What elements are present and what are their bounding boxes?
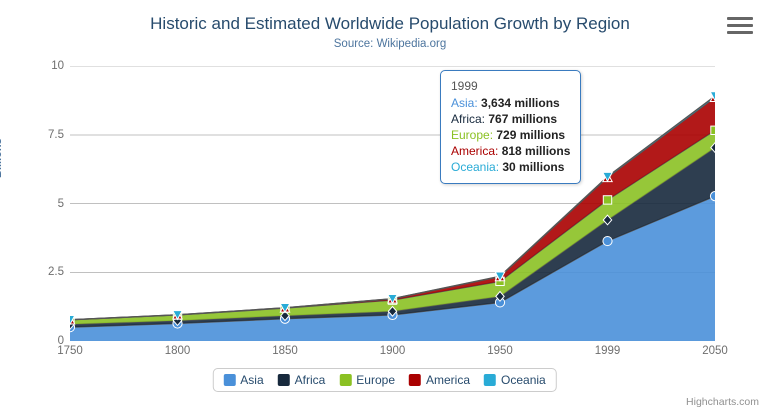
x-tick-label: 1750 xyxy=(57,345,83,357)
legend-swatch-icon xyxy=(409,374,421,386)
hamburger-menu-icon[interactable] xyxy=(727,16,753,38)
tooltip-series-name: Asia: xyxy=(451,96,481,110)
tooltip-series-value: 3,634 millions xyxy=(481,96,560,110)
credits-label: Highcharts.com xyxy=(686,396,759,408)
x-tick-label: 1900 xyxy=(380,345,406,357)
marker-europe[interactable] xyxy=(711,126,715,134)
legend-label: Europe xyxy=(356,373,395,387)
legend-swatch-icon xyxy=(339,374,351,386)
legend-label: America xyxy=(426,373,470,387)
legend-label: Oceania xyxy=(501,373,546,387)
legend-item-africa[interactable]: Africa xyxy=(278,373,326,387)
marker-europe[interactable] xyxy=(603,196,611,204)
tooltip-series-value: 729 millions xyxy=(496,128,565,142)
tooltip-series-name: Oceania: xyxy=(451,160,502,174)
legend[interactable]: AsiaAfricaEuropeAmericaOceania xyxy=(212,368,556,392)
legend-swatch-icon xyxy=(484,374,496,386)
tooltip-rows: Asia: 3,634 millionsAfrica: 767 millions… xyxy=(451,95,570,175)
tooltip-row: Europe: 729 millions xyxy=(451,127,570,143)
legend-item-europe[interactable]: Europe xyxy=(339,373,395,387)
tooltip-row: America: 818 millions xyxy=(451,143,570,159)
marker-asia[interactable] xyxy=(710,192,715,201)
legend-item-oceania[interactable]: Oceania xyxy=(484,373,546,387)
tooltip-series-name: Europe: xyxy=(451,128,496,142)
tooltip: 1999 Asia: 3,634 millionsAfrica: 767 mil… xyxy=(440,70,581,184)
legend-label: Africa xyxy=(295,373,326,387)
legend-label: Asia xyxy=(240,373,263,387)
x-tick-label: 1850 xyxy=(272,345,298,357)
tooltip-series-value: 30 millions xyxy=(502,160,564,174)
legend-swatch-icon xyxy=(223,374,235,386)
legend-item-asia[interactable]: Asia xyxy=(223,373,263,387)
x-tick-label: 1800 xyxy=(165,345,191,357)
plot-area xyxy=(70,66,715,341)
legend-swatch-icon xyxy=(278,374,290,386)
tooltip-series-name: America: xyxy=(451,144,502,158)
menu-bar-1 xyxy=(727,17,753,20)
marker-asia[interactable] xyxy=(603,236,612,245)
chart-container: Historic and Estimated Worldwide Populat… xyxy=(0,0,769,416)
tooltip-series-name: Africa: xyxy=(451,112,488,126)
tooltip-series-value: 818 millions xyxy=(502,144,571,158)
menu-bar-2 xyxy=(727,24,753,27)
chart-svg xyxy=(70,66,715,341)
tooltip-row: Oceania: 30 millions xyxy=(451,159,570,175)
x-tick-label: 1999 xyxy=(595,345,621,357)
y-tick-label: 7.5 xyxy=(18,129,64,141)
x-tick-label: 2050 xyxy=(702,345,728,357)
tooltip-series-value: 767 millions xyxy=(488,112,557,126)
x-axis: 1750180018501900195019992050 xyxy=(70,345,715,365)
menu-bar-3 xyxy=(727,31,753,34)
chart-subtitle: Source: Wikipedia.org xyxy=(70,38,710,50)
y-tick-label: 5 xyxy=(18,198,64,210)
tooltip-row: Asia: 3,634 millions xyxy=(451,95,570,111)
legend-item-america[interactable]: America xyxy=(409,373,470,387)
y-tick-label: 10 xyxy=(18,60,64,72)
tooltip-header: 1999 xyxy=(451,78,570,95)
tooltip-row: Africa: 767 millions xyxy=(451,111,570,127)
y-axis: 02.557.510 xyxy=(8,66,64,341)
y-axis-title: Billions xyxy=(0,138,4,178)
x-tick-label: 1950 xyxy=(487,345,513,357)
chart-title: Historic and Estimated Worldwide Populat… xyxy=(70,14,710,34)
y-tick-label: 2.5 xyxy=(18,266,64,278)
